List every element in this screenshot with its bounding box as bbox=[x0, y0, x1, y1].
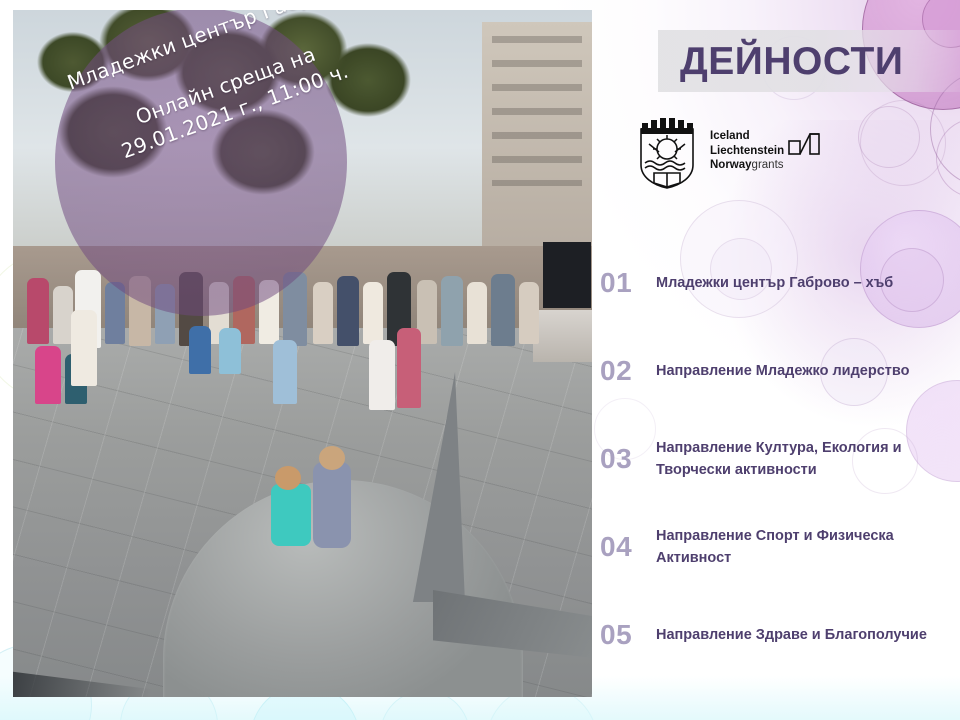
bubble-icon bbox=[860, 100, 946, 186]
grants-text: Iceland Liechtenstein Norwaygrants bbox=[710, 129, 784, 172]
grants-grants: grants bbox=[752, 159, 784, 171]
page-title: ДЕЙНОСТИ bbox=[680, 42, 903, 81]
event-photo: Младежки център Габрово Онлайн среща на … bbox=[13, 10, 592, 697]
presentation-slide: Младежки център Габрово Онлайн среща на … bbox=[0, 0, 960, 720]
grants-line-norway: Norwaygrants bbox=[710, 158, 784, 172]
list-item-number: 03 bbox=[600, 445, 656, 473]
list-item-label: Направление Здраве и Благополучие bbox=[656, 624, 933, 646]
gabrovo-coat-of-arms-icon bbox=[636, 113, 698, 189]
list-item-label: Направление Младежко лидерство bbox=[656, 360, 915, 382]
logo-group: Iceland Liechtenstein Norwaygrants bbox=[636, 112, 816, 190]
grants-norway: Norway bbox=[710, 159, 752, 171]
photo-stage-screen bbox=[543, 242, 591, 308]
list-item-number: 05 bbox=[600, 621, 656, 649]
list-item[interactable]: 02 Направление Младежко лидерство bbox=[600, 342, 960, 400]
list-item-number: 04 bbox=[600, 533, 656, 561]
grants-line-liechtenstein: Liechtenstein bbox=[710, 144, 784, 158]
list-item[interactable]: 03 Направление Култура, Екология и Творч… bbox=[600, 430, 960, 488]
list-item-label: Направление Спорт и Физическа Активност bbox=[656, 525, 960, 569]
title-bar: ДЕЙНОСТИ bbox=[658, 30, 960, 92]
grants-line-iceland: Iceland bbox=[710, 129, 784, 143]
list-item[interactable]: 04 Направление Спорт и Физическа Активно… bbox=[600, 518, 960, 576]
list-item-label: Младежки център Габрово – хъб bbox=[656, 272, 899, 294]
list-item-number: 02 bbox=[600, 357, 656, 385]
list-item[interactable]: 05 Направление Здраве и Благополучие bbox=[600, 606, 960, 664]
activities-list: 01 Младежки център Габрово – хъб 02 Напр… bbox=[600, 254, 960, 694]
eea-norway-grants-logo: Iceland Liechtenstein Norwaygrants bbox=[710, 129, 826, 172]
list-item-label: Направление Култура, Екология и Творческ… bbox=[656, 437, 960, 481]
list-item-number: 01 bbox=[600, 269, 656, 297]
photo-podium bbox=[533, 310, 592, 362]
list-item[interactable]: 01 Младежки център Габрово – хъб bbox=[600, 254, 960, 312]
grants-bar-mark-icon bbox=[788, 130, 826, 160]
photo-building bbox=[482, 22, 592, 252]
